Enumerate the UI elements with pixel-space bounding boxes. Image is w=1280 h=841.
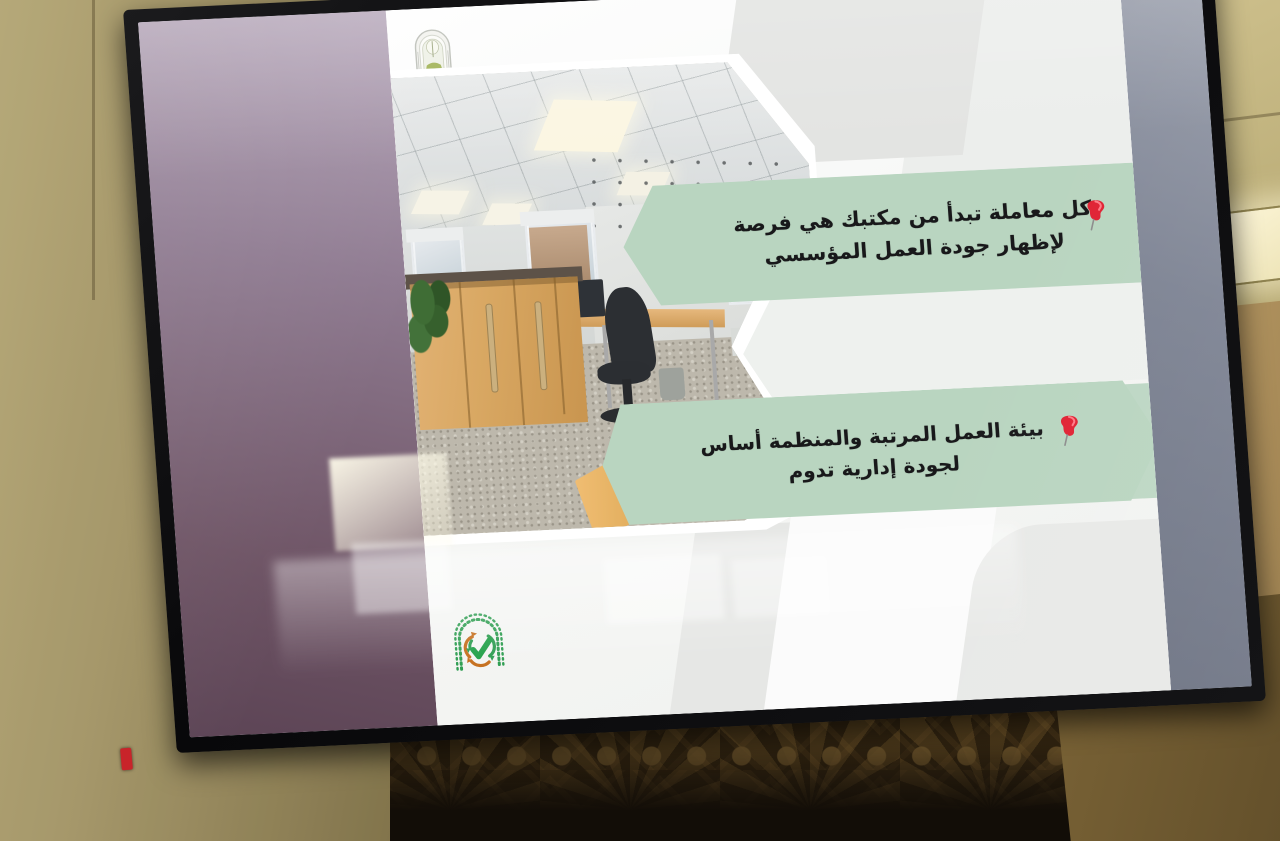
red-pushpin-icon — [1054, 412, 1086, 447]
television[interactable]: كل معاملة تبدأ من مكتبك هي فرصة لإظهار ج… — [123, 0, 1266, 753]
panel-seam — [92, 0, 95, 300]
tv-screen[interactable]: كل معاملة تبدأ من مكتبك هي فرصة لإظهار ج… — [138, 0, 1252, 737]
quality-cycle-checkmark-logo-icon — [448, 611, 510, 676]
callout-2-line-2: لجودة إدارية تدوم — [787, 452, 960, 484]
callout-1-text: كل معاملة تبدأ من مكتبك هي فرصة لإظهار ج… — [660, 191, 1145, 277]
callout-2-line-1: بيئة العمل المرتبة والمنظمة أساس — [699, 417, 1044, 457]
presentation-slide[interactable]: كل معاملة تبدأ من مكتبك هي فرصة لإظهار ج… — [385, 0, 1171, 726]
red-pushpin-icon — [1080, 197, 1112, 232]
callout-2-text: بيئة العمل المرتبة والمنظمة أساس لجودة إ… — [649, 410, 1114, 494]
tv-panel: كل معاملة تبدأ من مكتبك هي فرصة لإظهار ج… — [138, 0, 1252, 737]
callout-1-line-2: لإظهار جودة العمل المؤسسي — [764, 229, 1066, 267]
room-scene: كل معاملة تبدأ من مكتبك هي فرصة لإظهار ج… — [0, 0, 1280, 841]
tv-corner-marker — [120, 748, 133, 771]
